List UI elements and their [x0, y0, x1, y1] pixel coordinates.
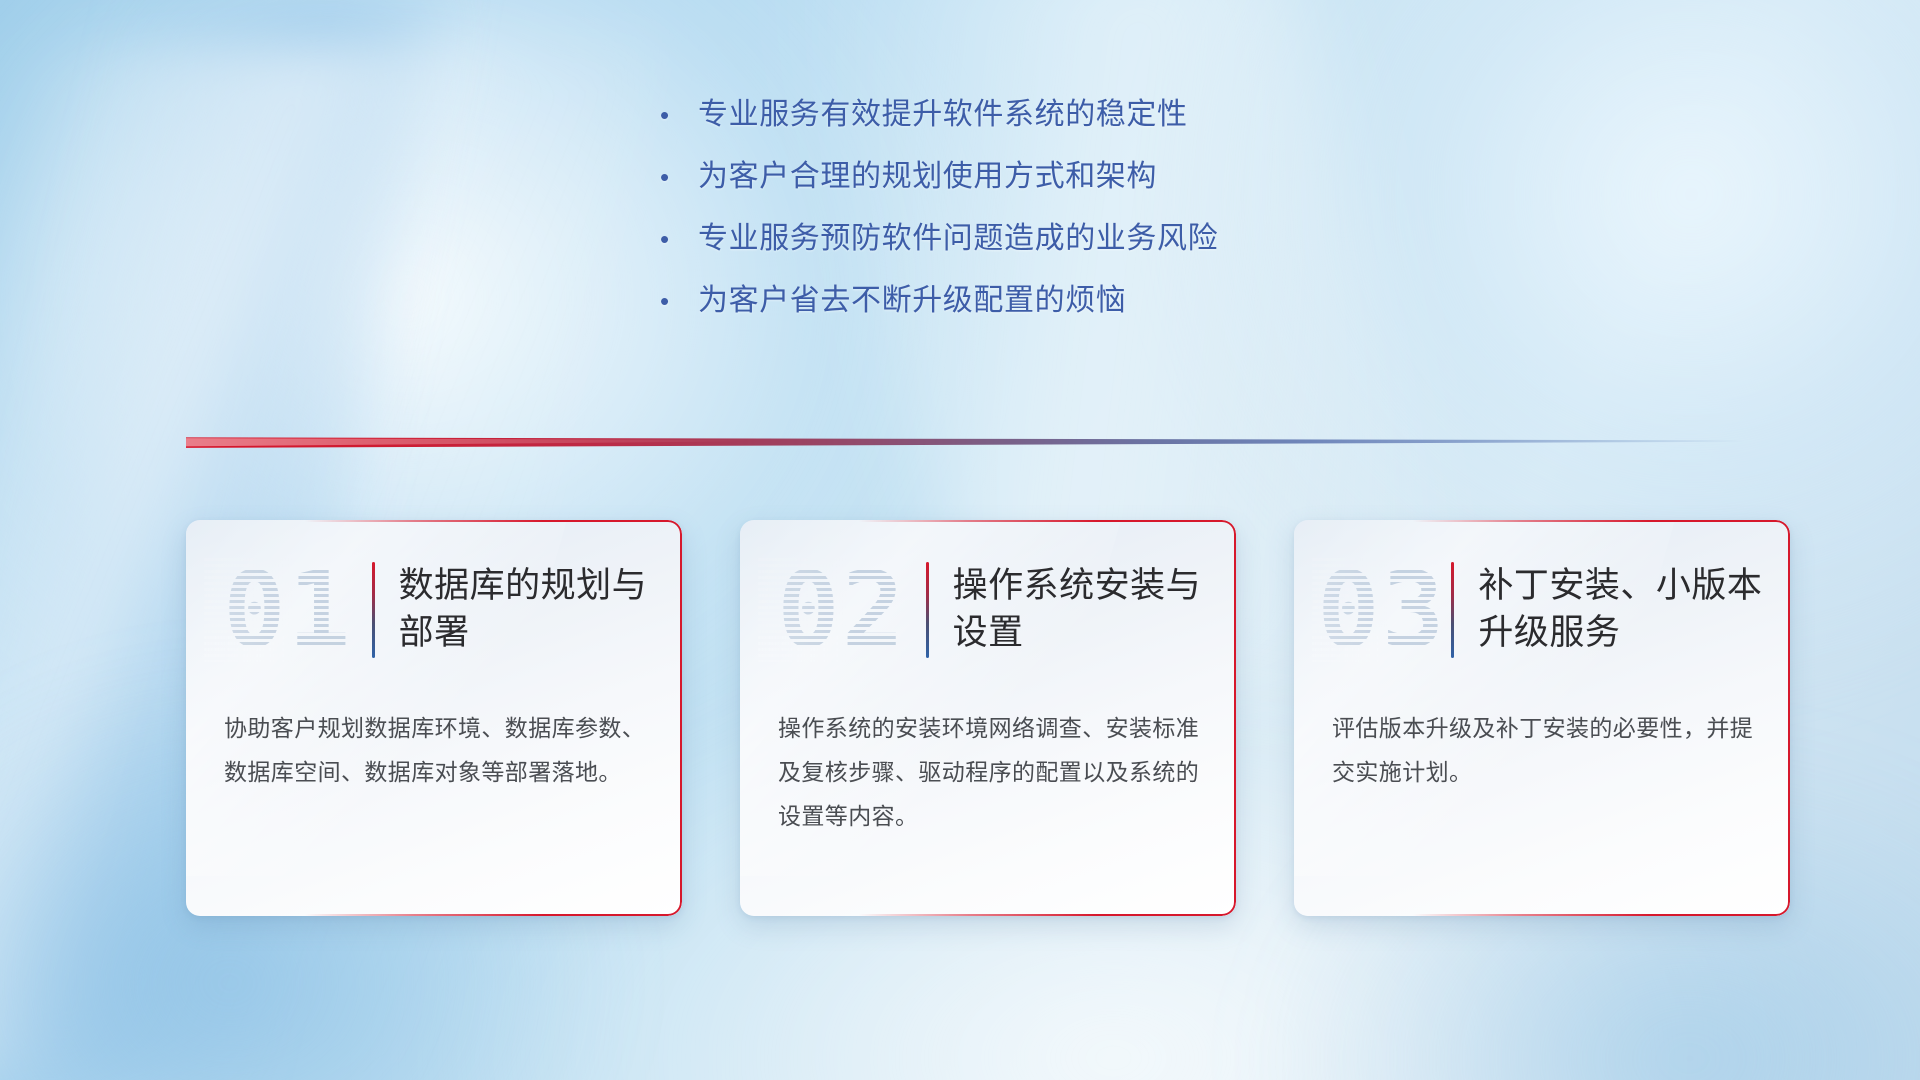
card-title: 操作系统安装与设置 — [953, 563, 1210, 657]
card-header: 02 操作系统安装与设置 — [740, 520, 1236, 700]
service-card-02[interactable]: 02 操作系统安装与设置 操作系统的安装环境网络调查、安装标准及复核步骤、驱动程… — [740, 520, 1236, 916]
service-card-03[interactable]: 03 补丁安装、小版本升级服务 评估版本升级及补丁安装的必要性，并提交实施计划。 — [1294, 520, 1790, 916]
card-title: 补丁安装、小版本升级服务 — [1478, 563, 1764, 657]
service-card-row: 01 数据库的规划与部署 协助客户规划数据库环境、数据库参数、数据库空间、数据库… — [186, 520, 1790, 916]
benefits-bullet-list: • 专业服务有效提升软件系统的稳定性 • 为客户合理的规划使用方式和架构 • 专… — [660, 100, 1420, 316]
title-divider-bar — [926, 562, 929, 658]
card-body-text: 操作系统的安装环境网络调查、安装标准及复核步骤、驱动程序的配置以及系统的设置等内… — [740, 700, 1236, 838]
bullet-text: 专业服务有效提升软件系统的稳定性 — [698, 100, 1420, 130]
card-number-watermark: 03 — [1312, 558, 1451, 662]
card-title: 数据库的规划与部署 — [399, 563, 656, 657]
bullet-text: 为客户合理的规划使用方式和架构 — [698, 162, 1420, 192]
card-header: 03 补丁安装、小版本升级服务 — [1294, 520, 1790, 700]
card-number-watermark: 02 — [758, 558, 926, 662]
bullet-item: • 专业服务有效提升软件系统的稳定性 — [660, 100, 1420, 130]
service-card-01[interactable]: 01 数据库的规划与部署 协助客户规划数据库环境、数据库参数、数据库空间、数据库… — [186, 520, 682, 916]
bullet-item: • 专业服务预防软件问题造成的业务风险 — [660, 224, 1420, 254]
bullet-dot-icon: • — [660, 100, 698, 130]
bullet-text: 专业服务预防软件问题造成的业务风险 — [698, 224, 1420, 254]
bullet-dot-icon: • — [660, 162, 698, 192]
bullet-item: • 为客户省去不断升级配置的烦恼 — [660, 286, 1420, 316]
bullet-dot-icon: • — [660, 286, 698, 316]
card-body-text: 协助客户规划数据库环境、数据库参数、数据库空间、数据库对象等部署落地。 — [186, 700, 682, 794]
bullet-dot-icon: • — [660, 224, 698, 254]
section-divider — [186, 432, 1746, 450]
title-divider-bar — [1451, 562, 1454, 658]
card-body-text: 评估版本升级及补丁安装的必要性，并提交实施计划。 — [1294, 700, 1790, 794]
title-divider-bar — [372, 562, 375, 658]
bullet-text: 为客户省去不断升级配置的烦恼 — [698, 286, 1420, 316]
bullet-item: • 为客户合理的规划使用方式和架构 — [660, 162, 1420, 192]
card-number-watermark: 01 — [204, 558, 372, 662]
card-header: 01 数据库的规划与部署 — [186, 520, 682, 700]
